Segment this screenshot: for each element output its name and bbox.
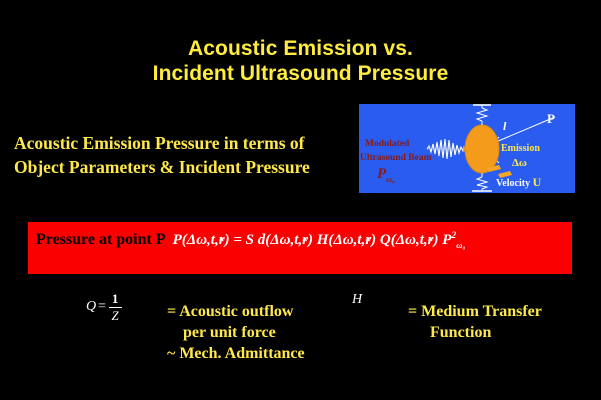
velocity-word: Velocity — [496, 178, 530, 189]
incident-pressure-symbol: P — [377, 166, 386, 182]
q-definition-expression: Q = 1 Z — [86, 292, 122, 323]
object-ellipse — [465, 125, 499, 173]
diagram-label-distance: l — [503, 120, 506, 132]
one-over-z-fraction: 1 Z — [109, 292, 122, 323]
eq-q-args: Δω,t,r — [396, 232, 434, 248]
eq-term-d: d — [258, 232, 266, 248]
title-line-1: Acoustic Emission vs. — [0, 36, 601, 61]
diagram-label-point-p: P — [547, 112, 555, 125]
q-desc-line-3: ~ Mech. Admittance — [167, 343, 305, 364]
velocity-symbol: U — [533, 175, 542, 189]
eq-equals: = — [233, 232, 242, 248]
bottom-support — [472, 173, 492, 191]
h-desc-line-2: Function — [408, 322, 542, 343]
eq-lhs-args: Δω,t,r — [187, 232, 225, 248]
eq-lhs-fn: P — [173, 232, 182, 248]
pressure-at-point-label: Pressure at point P — [36, 231, 166, 249]
h-symbol: H — [352, 292, 362, 308]
eq-h-args: Δω,t,r — [333, 232, 371, 248]
slide-canvas: Acoustic Emission vs. Incident Ultrasoun… — [0, 0, 601, 400]
eq-term-s: S — [246, 232, 254, 248]
q-symbol: Q — [86, 299, 96, 315]
page-title: Acoustic Emission vs. Incident Ultrasoun… — [0, 36, 601, 86]
eq-term-p-subscript: ω₀ — [456, 240, 465, 250]
diagram-label-beam: Ultrasound Beam — [360, 154, 432, 164]
q-desc-line-2: per unit force — [167, 322, 305, 343]
ultrasound-diagram: Modulated Ultrasound Beam Pω₀ l P Emissi… — [359, 104, 575, 193]
subtitle-line-2: Object Parameters & Incident Pressure — [14, 155, 354, 179]
diagram-label-velocity: Velocity U — [496, 176, 541, 189]
subtitle-block: Acoustic Emission Pressure in terms of O… — [14, 131, 354, 179]
diagram-label-emission: Emission — [501, 144, 540, 154]
incident-pressure-subscript: ω₀ — [386, 175, 395, 184]
fraction-numerator: 1 — [112, 292, 119, 306]
eq-d-args: Δω,t,r — [270, 232, 308, 248]
diagram-label-delta-omega: Δω — [512, 158, 527, 169]
q-equals: = — [97, 299, 106, 315]
formula-band: Pressure at point P P(Δω,t,r⃗) = S d(Δω,… — [28, 222, 572, 274]
formula-band-content: Pressure at point P P(Δω,t,r⃗) = S d(Δω,… — [36, 231, 568, 250]
h-definition-description: = Medium Transfer Function — [408, 301, 542, 343]
pressure-equation: P(Δω,t,r⃗) = S d(Δω,t,r⃗) H(Δω,t,r⃗) Q(Δ… — [173, 231, 466, 250]
modulated-wave-packet — [427, 139, 470, 159]
diagram-label-modulated: Modulated — [365, 140, 409, 150]
top-support — [473, 104, 491, 125]
eq-term-q: Q — [380, 232, 391, 248]
eq-term-h: H — [317, 232, 329, 248]
title-line-2: Incident Ultrasound Pressure — [0, 61, 601, 86]
subtitle-line-1: Acoustic Emission Pressure in terms of — [14, 131, 354, 155]
fraction-denominator: Z — [111, 309, 118, 323]
diagram-label-incident-pressure: Pω₀ — [377, 167, 395, 184]
h-desc-line-1: = Medium Transfer — [408, 301, 542, 322]
q-definition-description: = Acoustic outflow per unit force ~ Mech… — [167, 301, 305, 364]
q-desc-line-1: = Acoustic outflow — [167, 301, 305, 322]
